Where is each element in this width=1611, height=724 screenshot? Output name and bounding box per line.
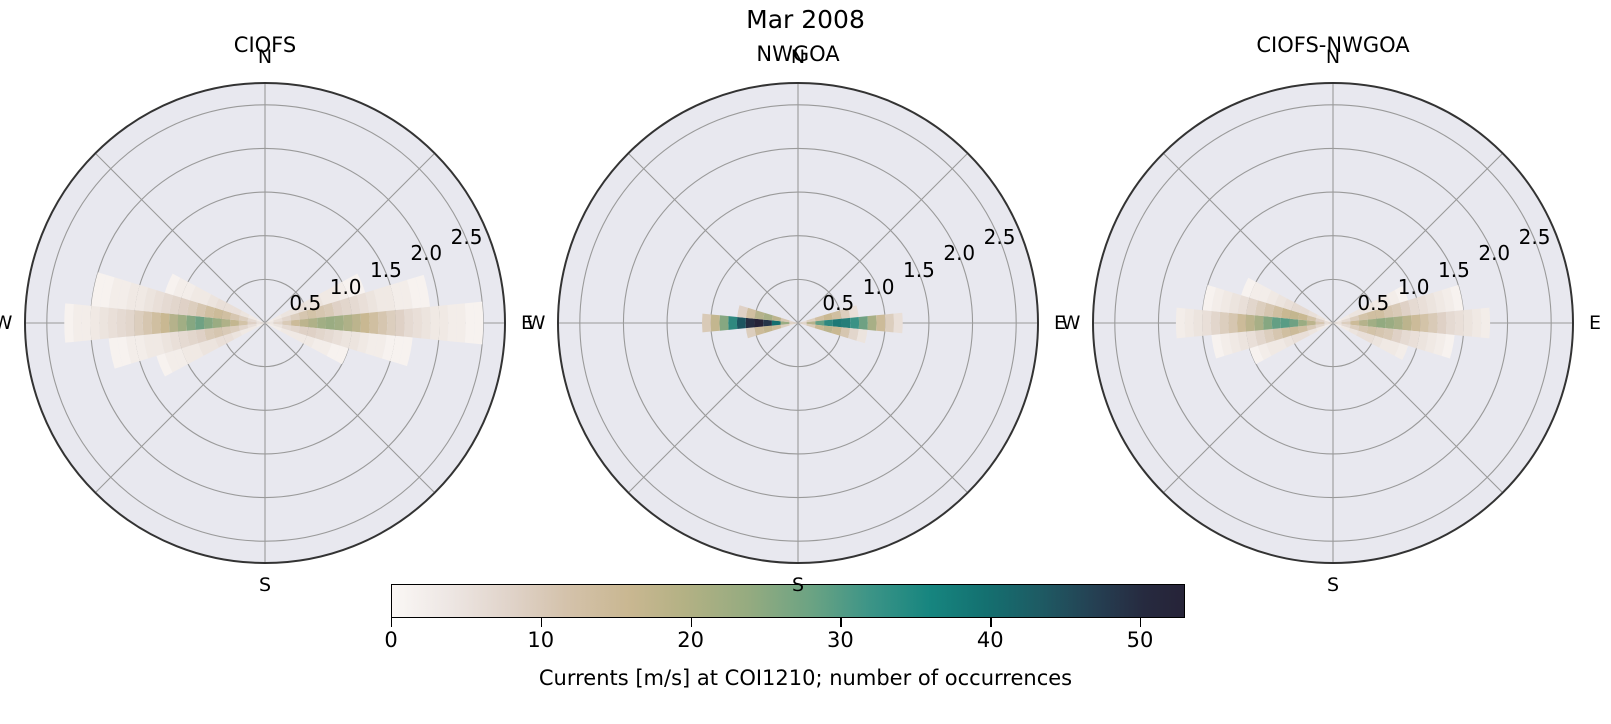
rose-bar (195, 316, 204, 330)
radial-tick-label: 1.5 (370, 258, 402, 282)
rose-bar (1246, 331, 1258, 349)
rose-bar (1308, 328, 1318, 335)
compass-label-west: W (527, 312, 546, 334)
rose-bar (390, 282, 404, 310)
rose-bar (1241, 278, 1256, 298)
rose-bar (152, 333, 165, 356)
radial-tick-label: 1.5 (1438, 258, 1470, 282)
rose-bar (317, 317, 326, 329)
rose-bar (1258, 343, 1272, 360)
rose-bar (1220, 333, 1233, 356)
rose-bar (240, 311, 250, 318)
rose-bar (221, 319, 230, 328)
colorbar-label: Currents [m/s] at COI1210; number of occ… (0, 666, 1611, 690)
rose-bar (117, 337, 131, 366)
rose-bar (311, 338, 323, 352)
radial-tick-label: 1.0 (1398, 275, 1430, 299)
rose-bar (265, 322, 274, 324)
rose-bar (298, 326, 308, 335)
rose-bar (728, 316, 737, 330)
rose-bar (152, 290, 165, 313)
rose-bar (222, 326, 232, 335)
rose-bar (108, 308, 117, 339)
rose-bar (1433, 290, 1446, 313)
rose-bar (840, 327, 850, 338)
rose-bar (1433, 333, 1446, 356)
rose-bar (99, 307, 108, 340)
rose-bar (876, 314, 885, 331)
rose-bar (1203, 285, 1216, 311)
rose-bar (806, 324, 815, 328)
rose-bar (1325, 323, 1333, 327)
rose-bar (789, 323, 798, 326)
rose-bar (1229, 293, 1241, 314)
rose-bar (815, 315, 824, 321)
rose-bar (1411, 314, 1420, 331)
rose-bar (859, 316, 868, 330)
rose-bar (763, 320, 772, 327)
rose-bar (1442, 288, 1455, 312)
rose-bar (746, 327, 756, 338)
rose-bar (395, 309, 404, 336)
rose-bar (240, 328, 250, 335)
rose-bar (117, 280, 131, 309)
rose-bar (273, 324, 282, 328)
rose-bar (1316, 318, 1325, 322)
rose-bar (365, 290, 378, 313)
rose-bar (169, 314, 178, 333)
rose-bar (1376, 318, 1385, 328)
rose-bar (143, 334, 156, 358)
rose-bar (223, 302, 234, 312)
rose-bar (265, 323, 273, 327)
rose-bar (169, 295, 181, 314)
rose-bar (143, 288, 156, 312)
rose-bar (291, 320, 300, 327)
radial-tick-label: 1.0 (330, 275, 362, 299)
rose-bar (109, 338, 123, 369)
rose-bar (439, 305, 449, 341)
rose-bar (1383, 328, 1394, 341)
rose-bar (352, 314, 361, 333)
rose-bar (323, 303, 334, 317)
rose-bar (196, 329, 207, 343)
rose-bar (789, 322, 798, 324)
rose-bar (1359, 320, 1368, 327)
rose-bar (280, 328, 290, 335)
rose-bar (404, 308, 413, 337)
rose-bar (273, 318, 282, 322)
rose-bar (152, 312, 161, 334)
rose-bar (1254, 315, 1263, 330)
rose-bar (894, 313, 903, 334)
rose-bar (343, 314, 352, 331)
rose-bar (737, 305, 748, 318)
rose-bar (161, 332, 173, 353)
rose-bar (1266, 341, 1279, 356)
rose-bar (156, 353, 172, 376)
rose-bar (1385, 317, 1394, 329)
colorbar-tick (691, 618, 692, 627)
rose-bar (1258, 286, 1272, 303)
rose-bar (824, 320, 833, 327)
rose-bar (1375, 327, 1385, 338)
rose-bar (308, 318, 317, 328)
rose-bar (135, 285, 148, 311)
rose-bar (772, 315, 781, 321)
rose-bar (737, 317, 746, 329)
rose-bar (1281, 318, 1290, 328)
rose-bar (232, 331, 242, 340)
rose-bar (257, 319, 265, 323)
compass-label-south: S (259, 574, 271, 596)
rose-bar (1316, 326, 1325, 332)
rose-bar (239, 315, 248, 321)
rose-bar (772, 320, 781, 325)
rose-bar (421, 307, 430, 340)
rose-bar (1300, 331, 1310, 340)
rose-bar (1283, 298, 1295, 310)
rose-bar (465, 302, 475, 343)
rose-bar (239, 325, 248, 331)
rose-bar (1307, 315, 1316, 321)
rose-bar (340, 331, 352, 349)
rose-bar (1325, 319, 1333, 323)
rose-bar (711, 314, 720, 331)
rose-bar (1379, 338, 1391, 352)
rose-bar (1249, 346, 1263, 364)
rose-bar (340, 298, 352, 316)
rose-bar (382, 285, 395, 311)
rose-bar (248, 324, 257, 328)
rose-bar (1342, 321, 1351, 324)
rose-bar (1442, 334, 1455, 358)
rose-bar (798, 323, 807, 326)
rose-bar (248, 318, 257, 322)
rose-bar (1364, 333, 1375, 343)
rose-bar (1220, 312, 1229, 334)
rose-bar (1176, 308, 1185, 339)
rose-bar (230, 326, 240, 334)
rose-bar (798, 320, 807, 323)
rose-bar (1281, 308, 1291, 319)
rose-bar (213, 327, 223, 338)
compass-label-south: S (1327, 574, 1339, 596)
rose-bar (1391, 329, 1402, 343)
rose-bar (282, 325, 291, 331)
rose-bar (1450, 285, 1463, 311)
rose-bar (207, 294, 219, 308)
rose-bar (415, 275, 430, 308)
rose-bar (1429, 313, 1438, 334)
rose-bar (369, 312, 378, 334)
rose-bar (1307, 320, 1316, 325)
rose-bar (850, 317, 859, 329)
rose-figure: Mar 2008 01020304050 Currents [m/s] at C… (0, 0, 1611, 724)
rose-bar (763, 326, 773, 334)
rose-bar (781, 318, 790, 322)
radial-tick-label: 2.0 (943, 241, 975, 265)
rose-bar (1298, 326, 1308, 334)
rose-bar (1446, 311, 1455, 335)
rose-bar (361, 313, 370, 334)
colorbar-gradient (391, 584, 1185, 618)
rose-bar (1420, 314, 1429, 333)
rose-bar (407, 277, 421, 308)
rose-bar (430, 306, 440, 340)
rose-bar (1324, 323, 1333, 326)
compass-label-west: W (1062, 312, 1081, 334)
rose-bar (173, 348, 188, 368)
rose-bar (1211, 288, 1224, 312)
rose-bar (326, 316, 335, 330)
compass-label-east: E (1589, 312, 1601, 334)
rose-bar (204, 328, 215, 341)
rose-bar (165, 274, 181, 296)
rose-bar (265, 320, 274, 323)
rose-bar (1425, 332, 1437, 353)
rose-bar (374, 288, 387, 312)
rose-bar (1291, 302, 1302, 312)
rose-bar (307, 327, 317, 338)
rose-bar (334, 315, 343, 330)
rose-bar (1275, 294, 1287, 308)
rose-bar (198, 341, 211, 356)
rose-bar (1308, 311, 1318, 318)
rose-bar (1358, 326, 1368, 334)
colorbar[interactable]: 01020304050 (391, 584, 1185, 618)
rose-bar (867, 315, 876, 330)
colorbar-tick (1140, 618, 1141, 627)
rose-bar (1307, 325, 1316, 331)
rose-bar (781, 321, 790, 324)
radial-tick-label: 2.0 (410, 241, 442, 265)
rose-bar (296, 333, 307, 343)
rose-bar (186, 315, 195, 330)
rose-bar (1202, 310, 1211, 336)
rose-bar (755, 326, 765, 335)
rose-bar (1281, 327, 1291, 338)
rose-bar (1324, 320, 1333, 323)
rose-bar (1408, 298, 1420, 316)
rose-bar (257, 323, 265, 327)
radial-tick-label: 0.5 (289, 291, 321, 315)
rose-bar (135, 335, 148, 361)
rose-bar (1408, 331, 1420, 349)
figure-suptitle: Mar 2008 (0, 5, 1611, 34)
compass-label-north: N (791, 46, 805, 68)
radial-tick-label: 1.0 (863, 275, 895, 299)
colorbar-tick-label: 10 (527, 628, 554, 652)
radial-tick-label: 0.5 (822, 291, 854, 315)
rose-bar (841, 318, 850, 328)
rose-bar (187, 330, 198, 346)
colorbar-tick-label: 30 (827, 628, 854, 652)
rose-bar (1266, 290, 1279, 305)
rose-bar (1341, 318, 1350, 322)
rose-bar (1402, 315, 1411, 330)
rose-bar (274, 321, 283, 324)
rose-bar (399, 280, 413, 309)
rose-bar (382, 335, 395, 361)
rose-bar (165, 351, 181, 373)
rose-bar (173, 278, 188, 298)
rose-bar (265, 323, 274, 326)
rose-bar (1263, 316, 1272, 330)
rose-bar (64, 303, 74, 342)
rose-bar (1368, 319, 1377, 328)
rose-bar (1400, 330, 1411, 346)
rose-bar (1229, 332, 1241, 353)
rose-bar (1193, 309, 1202, 336)
rose-bar (300, 319, 309, 328)
colorbar-tick-label: 40 (977, 628, 1004, 652)
rose-bar (1298, 320, 1307, 327)
rose-bar (1275, 338, 1287, 352)
rose-bar (1289, 319, 1298, 328)
rose-bar (169, 332, 181, 351)
rose-bar (204, 305, 215, 318)
rose-bar (399, 337, 413, 366)
rose-bar (1356, 331, 1366, 340)
radial-tick-label: 1.5 (903, 258, 935, 282)
rose-bar (187, 300, 198, 316)
rose-bar (215, 336, 227, 348)
radial-tick-label: 2.5 (451, 225, 483, 249)
rose-bar (1300, 307, 1310, 316)
rose-bar (215, 298, 227, 310)
rose-bar (1246, 314, 1255, 331)
compass-label-west: W (0, 312, 12, 334)
rose-bar (1228, 313, 1237, 334)
rose-bar (473, 302, 483, 345)
rose-bar (230, 313, 240, 321)
rose-bar (831, 326, 841, 335)
rose-bar (109, 277, 123, 308)
rose-bar (332, 300, 343, 316)
rose-bar (1350, 320, 1359, 325)
rose-bar (100, 275, 115, 308)
rose-bar (719, 315, 728, 330)
colorbar-tick (840, 618, 841, 627)
rose-bar (126, 336, 140, 364)
rose-bar (1341, 324, 1350, 328)
rose-bar (1400, 300, 1411, 316)
colorbar-tick-label: 50 (1127, 628, 1154, 652)
rose-bar (265, 319, 273, 323)
rose-bar (290, 326, 300, 334)
rose-bar (833, 319, 842, 328)
rose-bar (413, 308, 422, 339)
rose-bar (73, 304, 83, 342)
rose-bar (181, 346, 195, 364)
rose-bar (823, 326, 833, 334)
rose-bar (1272, 328, 1283, 341)
rose-bar (387, 310, 396, 336)
rose-bar (178, 314, 187, 331)
rose-bar (323, 329, 334, 343)
rose-bar (198, 290, 211, 305)
rose-bar (378, 311, 387, 335)
rose-bar (1290, 310, 1300, 319)
rose-bar (1341, 315, 1350, 321)
rose-bar (1387, 341, 1400, 356)
rose-bar (190, 286, 204, 303)
rose-bar (789, 320, 798, 323)
rose-bar (1264, 329, 1275, 343)
rose-bar (256, 322, 265, 324)
rose-bar (856, 329, 867, 343)
rose-bar (282, 315, 291, 321)
rose-bar (885, 314, 894, 333)
rose-bar (746, 318, 755, 328)
rose-bar (332, 330, 343, 346)
rose-bar (1249, 282, 1263, 300)
rose-bar (349, 332, 361, 351)
rose-bar (1333, 322, 1342, 324)
rose-bar (1316, 321, 1325, 324)
radial-tick-label: 2.5 (984, 225, 1016, 249)
rose-bar (334, 346, 348, 364)
compass-label-south: S (792, 574, 804, 596)
rose-bar (1316, 315, 1325, 321)
rose-bar (1255, 330, 1266, 346)
rose-bar (282, 320, 291, 325)
rose-bar (204, 317, 213, 329)
rose-bar (447, 304, 457, 342)
rose-bar (1371, 336, 1383, 348)
rose-bar (319, 341, 332, 356)
rose-bar (1366, 326, 1376, 335)
rose-bar (807, 321, 816, 324)
rose-bar (196, 303, 207, 317)
colorbar-tick (391, 618, 392, 627)
rose-bar (1283, 336, 1295, 348)
rose-bar (806, 318, 815, 322)
rose-bar (1437, 312, 1446, 334)
rose-bar (327, 343, 341, 360)
rose-bar (390, 336, 404, 364)
rose-bar (798, 322, 807, 324)
rose-bar (117, 308, 126, 337)
rose-bar (213, 308, 223, 319)
radial-tick-label: 2.0 (1478, 241, 1510, 265)
rose-bar (126, 282, 140, 310)
rose-bar (1324, 322, 1333, 324)
rose-bar (1348, 328, 1358, 335)
colorbar-tick-label: 0 (384, 628, 397, 652)
rose-bar (1246, 298, 1258, 316)
colorbar-tick (541, 618, 542, 627)
rose-bar (1350, 315, 1359, 321)
rose-bar (1237, 332, 1249, 351)
rose-bar (1333, 319, 1341, 323)
rose-bar (1395, 343, 1409, 360)
rose-bar (222, 310, 232, 319)
rose-bar (815, 320, 824, 325)
rose-bar (1272, 305, 1283, 318)
rose-bar (702, 314, 711, 333)
rose-bar (248, 315, 257, 321)
rose-bar (848, 328, 859, 341)
rose-bar (90, 306, 100, 340)
radial-tick-label: 2.5 (1519, 225, 1551, 249)
rose-bar (357, 332, 369, 353)
rose-bar (1350, 325, 1359, 331)
rose-bar (273, 315, 282, 321)
rose-bar (230, 320, 239, 327)
rose-bar (815, 325, 824, 331)
